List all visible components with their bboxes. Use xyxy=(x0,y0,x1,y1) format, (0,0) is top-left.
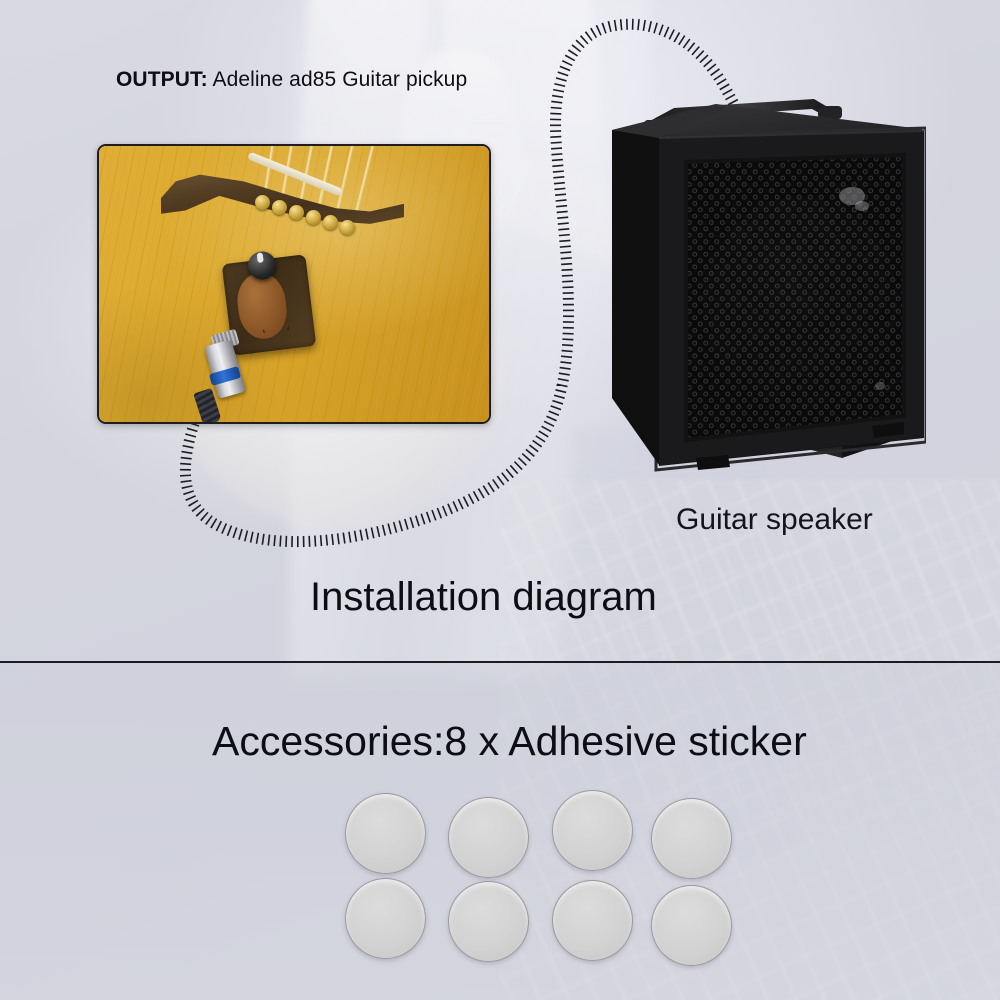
honeycomb-mesh-icon xyxy=(674,146,924,456)
pickup-installation-photo xyxy=(97,144,491,424)
product-infographic-page: OUTPUT: Adeline ad85 Guitar pickup xyxy=(0,0,1000,1000)
adhesive-sticker xyxy=(345,793,426,874)
bridge-pin xyxy=(255,195,270,210)
bridge-pin xyxy=(340,220,355,235)
accessories-title: Accessories:8 x Adhesive sticker xyxy=(212,718,807,765)
pickup-faceplate xyxy=(234,270,290,341)
knob-indicator xyxy=(257,252,264,263)
section-divider xyxy=(0,661,1000,663)
output-label-prefix: OUTPUT xyxy=(116,68,201,91)
output-label-separator: : xyxy=(201,68,208,91)
adhesive-sticker xyxy=(552,880,633,961)
adhesive-sticker xyxy=(651,885,732,966)
adhesive-sticker xyxy=(552,790,633,871)
bridge-pin xyxy=(323,215,338,230)
adhesive-sticker xyxy=(651,798,732,879)
adhesive-sticker xyxy=(345,878,426,959)
pickup-brand-logo xyxy=(261,310,289,333)
bridge-pin xyxy=(306,210,321,225)
adhesive-sticker xyxy=(448,881,529,962)
adhesive-sticker xyxy=(448,797,529,878)
output-label-value: Adeline ad85 Guitar pickup xyxy=(208,68,468,91)
guitar-speaker-image xyxy=(604,86,926,484)
guitar-speaker-label: Guitar speaker xyxy=(676,503,873,537)
bridge-pin xyxy=(289,205,304,220)
installation-diagram-title: Installation diagram xyxy=(310,575,657,620)
speaker-cabinet-illustration xyxy=(604,86,926,484)
output-label: OUTPUT: Adeline ad85 Guitar pickup xyxy=(116,68,467,92)
bridge-pin xyxy=(272,200,287,215)
